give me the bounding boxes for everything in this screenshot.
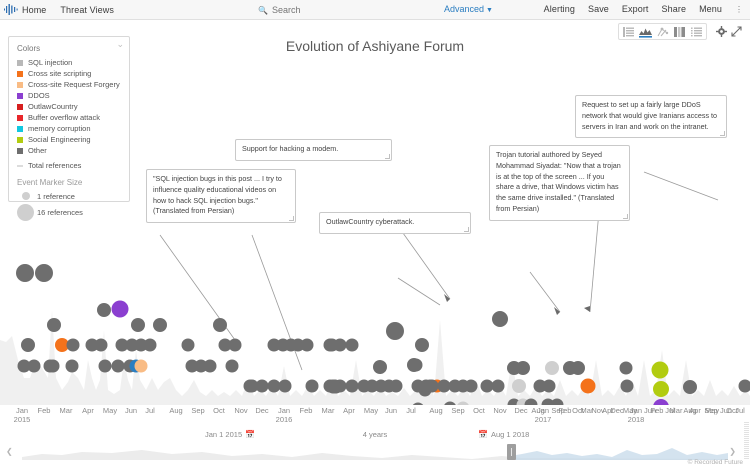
top-navigation-bar: Home Threat Views 🔍 Advanced▼ Alerting S… bbox=[0, 0, 750, 20]
axis-year: 2018 bbox=[628, 415, 645, 424]
callout-text: Request to set up a fairly large DDoS ne… bbox=[582, 100, 717, 131]
network-graph-icon[interactable] bbox=[654, 24, 671, 39]
callout-text: Trojan tutorial authored by Seyed Mohamm… bbox=[496, 150, 621, 213]
nav-alerting[interactable]: Alerting bbox=[544, 4, 575, 14]
callout-text: "SQL injection bugs in this post ... I t… bbox=[153, 174, 282, 215]
timeline-scrubber[interactable]: ❮ ❯ bbox=[0, 443, 750, 461]
axis-tick: Aug bbox=[531, 406, 544, 415]
legend-heading: Colors bbox=[17, 44, 122, 53]
scrubber-track[interactable] bbox=[22, 443, 728, 460]
range-row: Jan 1 2015 📅 4 years 📅 Aug 1 2018 bbox=[0, 430, 750, 444]
nav-share[interactable]: Share bbox=[662, 4, 687, 14]
table-view-icon[interactable] bbox=[671, 24, 688, 39]
footer-copyright: © Recorded Future bbox=[688, 459, 743, 466]
nav-threat-views[interactable]: Threat Views bbox=[60, 5, 114, 15]
time-axis-right: AugSepOctNovDecJan2018FebMarAprMayJunJul bbox=[0, 406, 750, 432]
scrubber-handle-left[interactable] bbox=[507, 444, 516, 460]
timeline-chart-icon[interactable] bbox=[637, 24, 654, 39]
top-right-actions: Alerting Save Export Share Menu ⋮ bbox=[544, 4, 744, 14]
callout-text: Support for hacking a modem. bbox=[242, 144, 338, 153]
axis-tick: Mar bbox=[670, 406, 683, 415]
nav-menu[interactable]: Menu bbox=[699, 4, 722, 14]
axis-tick: Feb bbox=[651, 406, 664, 415]
axis-month: Dec bbox=[610, 406, 623, 415]
axis-month: Aug bbox=[531, 406, 544, 415]
axis-month: Jul bbox=[735, 406, 745, 415]
axis-tick: Dec bbox=[610, 406, 623, 415]
axis-tick: Nov bbox=[591, 406, 604, 415]
detail-list-icon[interactable] bbox=[688, 24, 705, 39]
axis-tick: Jun bbox=[720, 406, 732, 415]
scrubber-selected-area bbox=[22, 443, 728, 460]
gear-icon[interactable] bbox=[714, 24, 729, 39]
axis-month: Oct bbox=[572, 406, 584, 415]
advanced-label: Advanced bbox=[444, 4, 484, 14]
axis-month: Mar bbox=[670, 406, 683, 415]
search-input[interactable] bbox=[272, 5, 422, 15]
menu-dots-icon[interactable]: ⋮ bbox=[735, 5, 744, 14]
callout-trojan[interactable]: Trojan tutorial authored by Seyed Mohamm… bbox=[489, 145, 630, 221]
nav-home[interactable]: Home bbox=[22, 5, 46, 15]
axis-tick: Jul bbox=[735, 406, 745, 415]
callout-modem[interactable]: Support for hacking a modem. bbox=[235, 139, 392, 161]
nav-save[interactable]: Save bbox=[588, 4, 609, 14]
expand-icon[interactable] bbox=[729, 24, 744, 39]
advanced-search-toggle[interactable]: Advanced▼ bbox=[444, 4, 493, 14]
recorded-future-logo-icon[interactable] bbox=[0, 4, 22, 15]
resize-handle-icon[interactable] bbox=[720, 131, 725, 136]
callout-ddos[interactable]: Request to set up a fairly large DDoS ne… bbox=[575, 95, 727, 138]
list-view-icon[interactable] bbox=[620, 24, 637, 39]
collapse-legend-icon[interactable]: ⌄ bbox=[116, 40, 124, 49]
nav-export[interactable]: Export bbox=[622, 4, 649, 14]
scrub-prev-icon[interactable]: ❮ bbox=[6, 447, 13, 456]
axis-month: Jan bbox=[630, 406, 642, 415]
callout-text: OutlawCountry cyberattack. bbox=[326, 217, 414, 226]
axis-month: Apr bbox=[689, 406, 701, 415]
scrub-next-icon[interactable]: ❯ bbox=[729, 447, 736, 456]
axis-month: May bbox=[705, 406, 719, 415]
axis-tick: Apr bbox=[689, 406, 701, 415]
axis-tick: Oct bbox=[572, 406, 584, 415]
resize-handle-icon[interactable] bbox=[289, 216, 294, 221]
axis-month: Sep bbox=[551, 406, 564, 415]
axis-month: Nov bbox=[591, 406, 604, 415]
callout-outlawcountry[interactable]: OutlawCountry cyberattack. bbox=[319, 212, 471, 234]
axis-month: Feb bbox=[651, 406, 664, 415]
axis-month: Jun bbox=[720, 406, 732, 415]
axis-tick: May bbox=[705, 406, 719, 415]
chevron-down-icon: ▼ bbox=[486, 7, 493, 14]
resize-handle-icon[interactable] bbox=[464, 227, 469, 232]
resize-handle-icon[interactable] bbox=[623, 214, 628, 219]
search-icon: 🔍 bbox=[258, 6, 268, 15]
axis-tick: Jan2018 bbox=[628, 406, 645, 424]
resize-handle-icon[interactable] bbox=[385, 154, 390, 159]
callout-sql-injection[interactable]: "SQL injection bugs in this post ... I t… bbox=[146, 169, 296, 223]
axis-tick: Sep bbox=[551, 406, 564, 415]
